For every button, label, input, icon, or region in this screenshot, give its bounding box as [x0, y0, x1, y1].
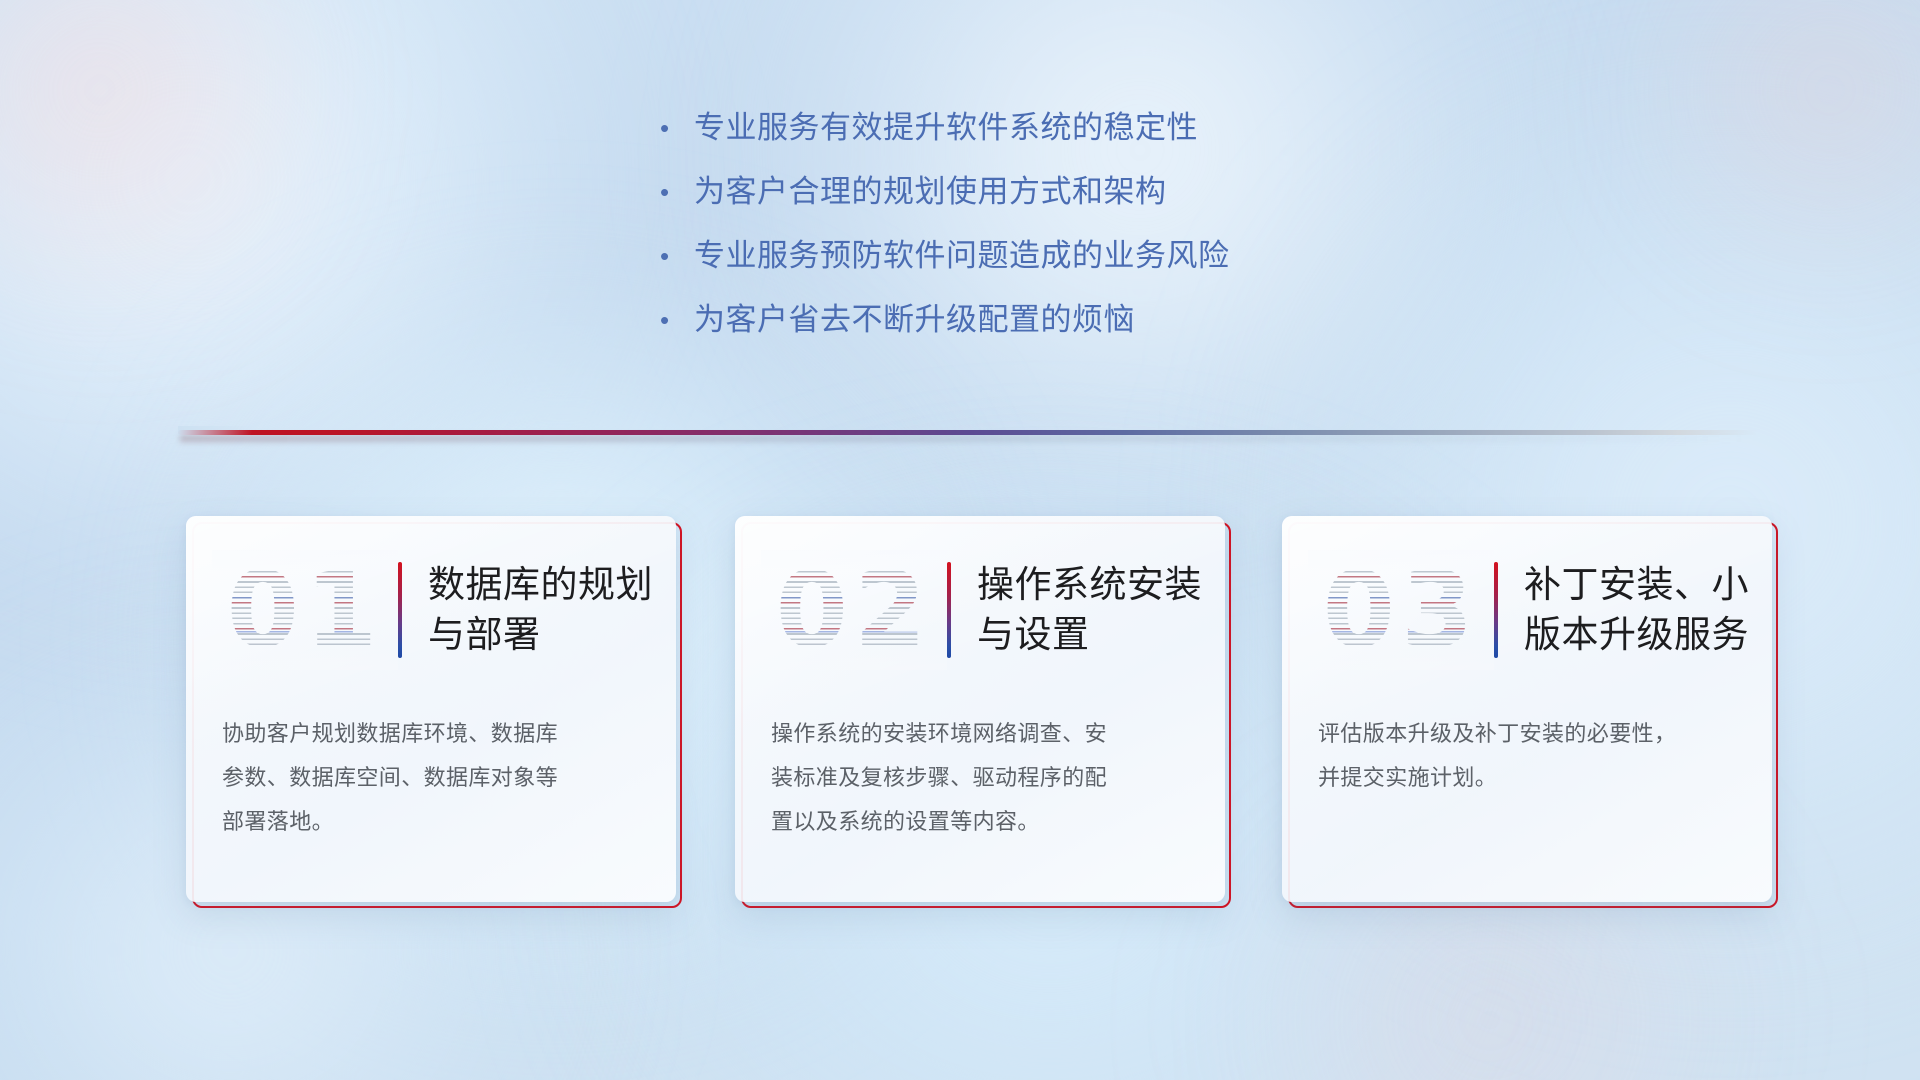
card-title: 操作系统安装 与设置 — [977, 560, 1225, 660]
bullet-label: 为客户省去不断升级配置的烦恼 — [694, 298, 1135, 342]
card-title-divider-bar — [1494, 562, 1498, 658]
service-card-02[interactable]: 02 02 02 操作系统安装 与设置 操作系统的安装环境网络调查、安 装标准及… — [735, 516, 1225, 902]
card-description-line-2: 参数、数据库空间、数据库对象等 — [222, 756, 644, 800]
card-description-line-2: 并提交实施计划。 — [1318, 756, 1740, 800]
card-description-line-2: 装标准及复核步骤、驱动程序的配 — [771, 756, 1193, 800]
bullet-label: 专业服务有效提升软件系统的稳定性 — [694, 106, 1198, 150]
card-title-line-2: 与部署 — [428, 610, 658, 660]
card-header: 02 02 02 操作系统安装 与设置 — [735, 516, 1225, 704]
card-number-accent-blue: 03 — [1308, 550, 1494, 670]
card-surface: 01 01 01 数据库的规划 与部署 协助客户规划数据库环境、数据库 参数、数… — [186, 516, 676, 902]
card-number-accent-blue: 02 — [761, 550, 947, 670]
card-description: 协助客户规划数据库环境、数据库 参数、数据库空间、数据库对象等 部署落地。 — [222, 712, 644, 844]
bullet-point-icon: • — [660, 234, 694, 278]
card-header: 03 03 03 补丁安装、小 版本升级服务 — [1282, 516, 1772, 704]
card-title-line-1: 补丁安装、小 — [1524, 560, 1754, 610]
slide-content: • 专业服务有效提升软件系统的稳定性 • 为客户合理的规划使用方式和架构 • 专… — [0, 0, 1920, 1080]
divider-shadow — [180, 435, 1747, 442]
service-card-list: 01 01 01 数据库的规划 与部署 协助客户规划数据库环境、数据库 参数、数… — [0, 516, 1920, 936]
card-number-accent-blue: 01 — [212, 550, 398, 670]
card-title-line-2: 与设置 — [977, 610, 1207, 660]
card-header: 01 01 01 数据库的规划 与部署 — [186, 516, 676, 704]
bullet-point-icon: • — [660, 170, 694, 214]
list-item: • 为客户省去不断升级配置的烦恼 — [660, 298, 1440, 362]
benefits-bullet-list: • 专业服务有效提升软件系统的稳定性 • 为客户合理的规划使用方式和架构 • 专… — [660, 106, 1440, 362]
card-title-line-1: 数据库的规划 — [428, 560, 658, 610]
card-number-watermark: 01 01 01 — [212, 550, 398, 670]
card-title-divider-bar — [947, 562, 951, 658]
card-description: 评估版本升级及补丁安装的必要性， 并提交实施计划。 — [1318, 712, 1740, 800]
list-item: • 专业服务预防软件问题造成的业务风险 — [660, 234, 1440, 298]
card-title: 补丁安装、小 版本升级服务 — [1524, 560, 1772, 660]
divider-left-taper — [178, 426, 298, 435]
card-description: 操作系统的安装环境网络调查、安 装标准及复核步骤、驱动程序的配 置以及系统的设置… — [771, 712, 1193, 844]
card-description-line-3: 置以及系统的设置等内容。 — [771, 800, 1193, 844]
card-title: 数据库的规划 与部署 — [428, 560, 676, 660]
card-description-line-1: 协助客户规划数据库环境、数据库 — [222, 712, 644, 756]
card-title-divider-bar — [398, 562, 402, 658]
card-number-watermark: 03 03 03 — [1308, 550, 1494, 670]
list-item: • 专业服务有效提升软件系统的稳定性 — [660, 106, 1440, 170]
service-card-01[interactable]: 01 01 01 数据库的规划 与部署 协助客户规划数据库环境、数据库 参数、数… — [186, 516, 676, 902]
card-title-line-1: 操作系统安装 — [977, 560, 1207, 610]
bullet-point-icon: • — [660, 298, 694, 342]
service-card-03[interactable]: 03 03 03 补丁安装、小 版本升级服务 评估版本升级及补丁安装的必要性， … — [1282, 516, 1772, 902]
section-divider — [178, 424, 1758, 446]
card-title-line-2: 版本升级服务 — [1524, 610, 1754, 660]
list-item: • 为客户合理的规划使用方式和架构 — [660, 170, 1440, 234]
card-number-watermark: 02 02 02 — [761, 550, 947, 670]
bullet-label: 专业服务预防软件问题造成的业务风险 — [694, 234, 1230, 278]
card-description-line-3: 部署落地。 — [222, 800, 644, 844]
card-description-line-1: 操作系统的安装环境网络调查、安 — [771, 712, 1193, 756]
bullet-label: 为客户合理的规划使用方式和架构 — [694, 170, 1167, 214]
divider-line — [178, 430, 1758, 435]
card-surface: 02 02 02 操作系统安装 与设置 操作系统的安装环境网络调查、安 装标准及… — [735, 516, 1225, 902]
bullet-point-icon: • — [660, 106, 694, 150]
card-description-line-1: 评估版本升级及补丁安装的必要性， — [1318, 712, 1740, 756]
card-surface: 03 03 03 补丁安装、小 版本升级服务 评估版本升级及补丁安装的必要性， … — [1282, 516, 1772, 902]
